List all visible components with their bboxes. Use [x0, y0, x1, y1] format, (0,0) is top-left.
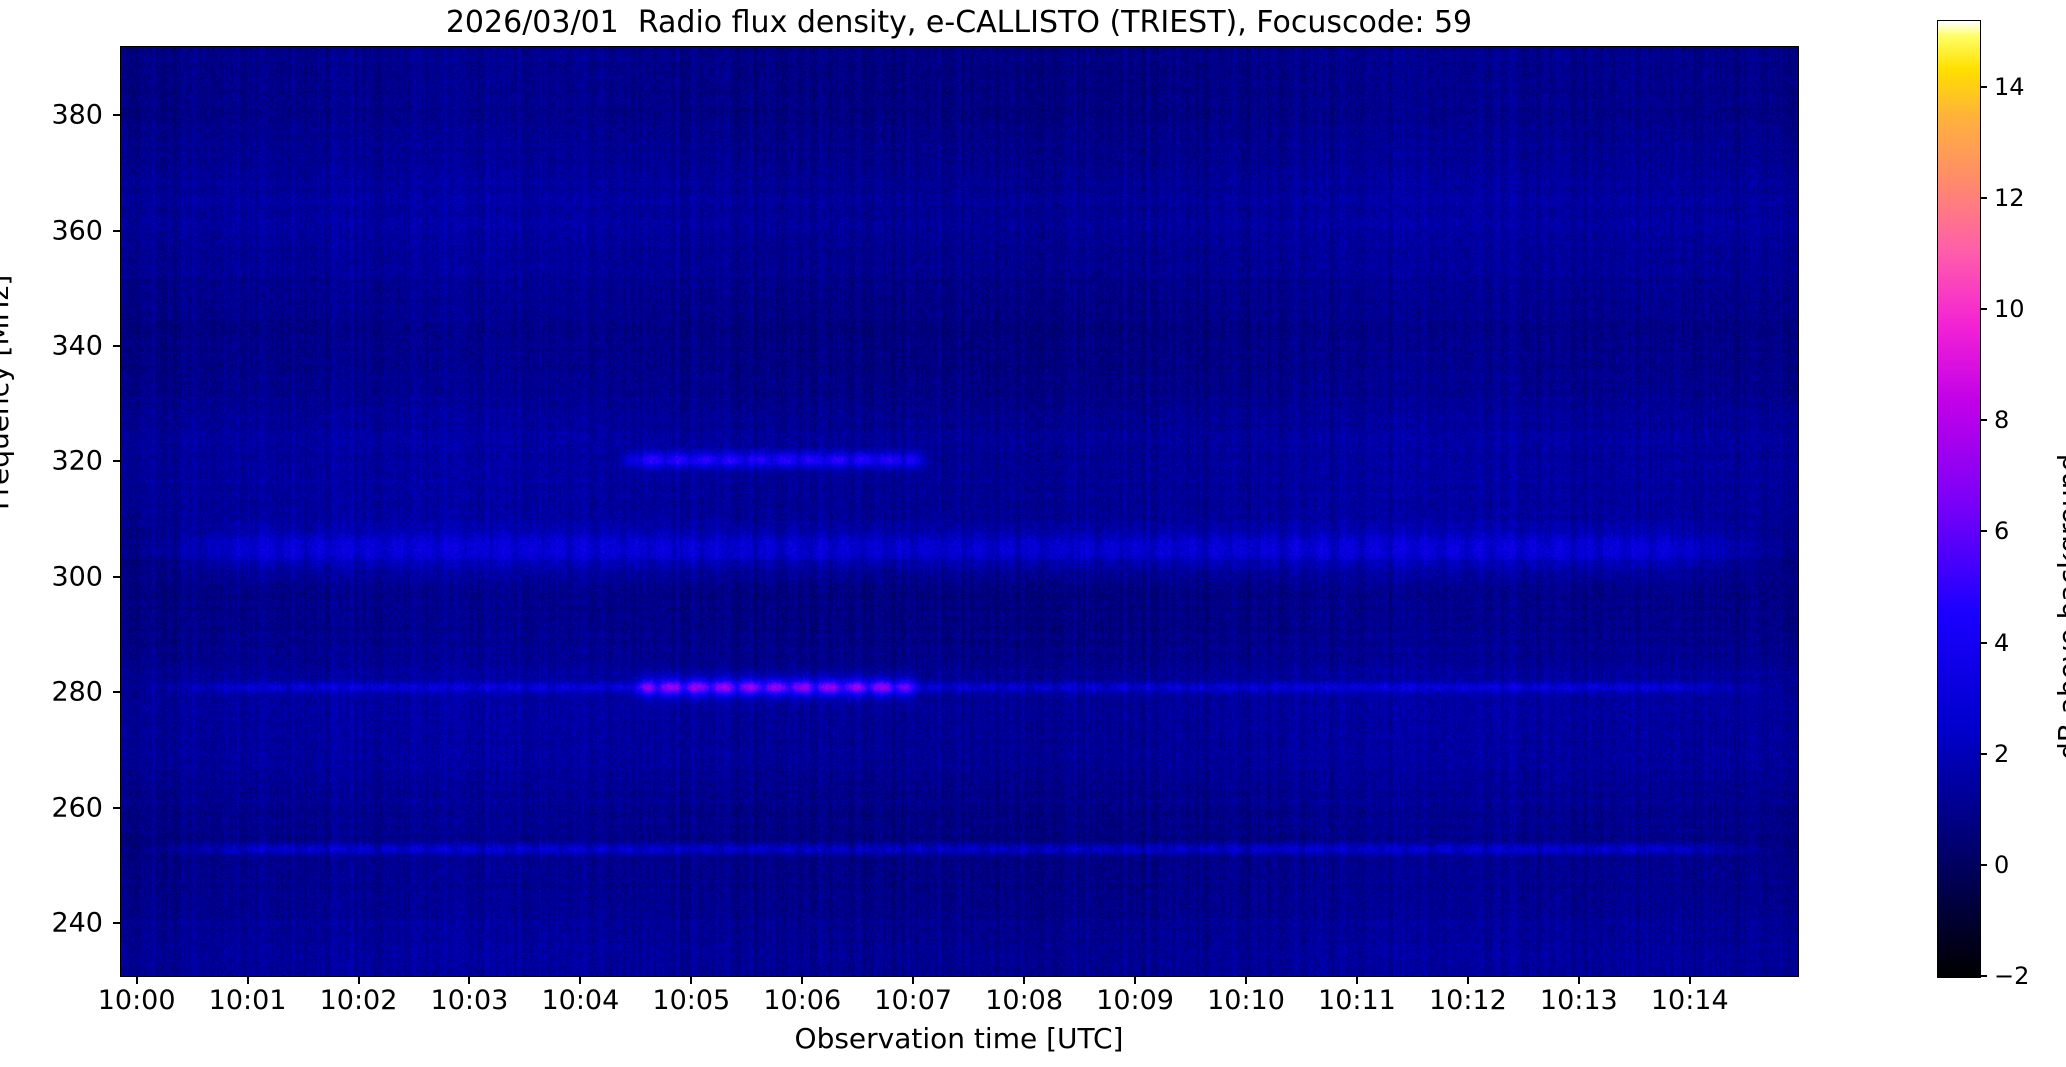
x-axis-tick-label: 10:14	[1651, 985, 1729, 1016]
x-axis-tick-label: 10:13	[1540, 985, 1618, 1016]
colorbar-tick-mark	[1980, 530, 1987, 532]
x-axis-tick-mark	[136, 977, 138, 984]
colorbar-tick-mark	[1980, 197, 1987, 199]
x-axis-tick-label: 10:01	[209, 985, 287, 1016]
x-axis-tick-mark	[1689, 977, 1691, 984]
x-axis-tick-label: 10:07	[874, 985, 952, 1016]
x-axis-tick-mark	[358, 977, 360, 984]
x-axis-tick-label: 10:06	[763, 985, 841, 1016]
x-axis-tick-mark	[1467, 977, 1469, 984]
page-title: 2026/03/01 Radio flux density, e-CALLIST…	[120, 4, 1798, 42]
colorbar-tick-label: −2	[1994, 962, 2029, 990]
x-axis-tick-mark	[247, 977, 249, 984]
x-axis-tick-mark	[1578, 977, 1580, 984]
x-axis-tick-label: 10:12	[1429, 985, 1507, 1016]
colorbar-tick-label: 0	[1994, 851, 2009, 879]
colorbar-tick-label: 6	[1994, 517, 2009, 545]
colorbar-label: dB above background	[2052, 454, 2066, 760]
y-axis-tick-label: 380	[0, 100, 103, 131]
colorbar-gradient	[1938, 21, 1980, 977]
x-axis-tick-mark	[801, 977, 803, 984]
y-axis-tick-label: 240	[0, 908, 103, 939]
x-axis-tick-mark	[468, 977, 470, 984]
colorbar-tick-mark	[1980, 86, 1987, 88]
x-axis-tick-mark	[1023, 977, 1025, 984]
colorbar	[1937, 20, 1981, 978]
x-axis-label: Observation time [UTC]	[120, 1022, 1798, 1055]
colorbar-tick-label: 2	[1994, 740, 2009, 768]
x-axis-tick-mark	[579, 977, 581, 984]
colorbar-tick-mark	[1980, 864, 1987, 866]
x-axis-tick-label: 10:04	[541, 985, 619, 1016]
colorbar-tick-label: 4	[1994, 629, 2009, 657]
y-axis-tick-mark	[113, 807, 120, 809]
y-axis-tick-label: 300	[0, 561, 103, 592]
y-axis-tick-label: 280	[0, 677, 103, 708]
x-axis-tick-mark	[912, 977, 914, 984]
colorbar-tick-mark	[1980, 419, 1987, 421]
y-axis-tick-mark	[113, 114, 120, 116]
y-axis-tick-mark	[113, 460, 120, 462]
colorbar-tick-mark	[1980, 753, 1987, 755]
colorbar-tick-label: 10	[1994, 295, 2025, 323]
y-axis-tick-mark	[113, 922, 120, 924]
x-axis-tick-mark	[690, 977, 692, 984]
y-axis-tick-mark	[113, 691, 120, 693]
y-axis-tick-label: 260	[0, 792, 103, 823]
spectrogram-plot-area	[120, 46, 1799, 977]
colorbar-tick-mark	[1980, 642, 1987, 644]
x-axis-tick-label: 10:11	[1318, 985, 1396, 1016]
y-axis-tick-label: 320	[0, 446, 103, 477]
colorbar-tick-mark	[1980, 975, 1987, 977]
spectrogram-image	[121, 47, 1798, 976]
colorbar-tick-mark	[1980, 308, 1987, 310]
x-axis-tick-mark	[1245, 977, 1247, 984]
y-axis-tick-mark	[113, 576, 120, 578]
x-axis-tick-label: 10:02	[320, 985, 398, 1016]
x-axis-tick-label: 10:00	[98, 985, 176, 1016]
spectrogram-figure: 2026/03/01 Radio flux density, e-CALLIST…	[0, 0, 2066, 1067]
x-axis-tick-label: 10:09	[1096, 985, 1174, 1016]
y-axis-tick-label: 360	[0, 215, 103, 246]
y-axis-tick-mark	[113, 230, 120, 232]
x-axis-tick-mark	[1356, 977, 1358, 984]
x-axis-tick-label: 10:05	[652, 985, 730, 1016]
x-axis-tick-label: 10:08	[985, 985, 1063, 1016]
y-axis-tick-mark	[113, 345, 120, 347]
colorbar-tick-label: 8	[1994, 406, 2009, 434]
x-axis-tick-mark	[1134, 977, 1136, 984]
colorbar-tick-label: 12	[1994, 184, 2025, 212]
colorbar-tick-label: 14	[1994, 73, 2025, 101]
x-axis-tick-label: 10:10	[1207, 985, 1285, 1016]
x-axis-tick-label: 10:03	[431, 985, 509, 1016]
y-axis-tick-label: 340	[0, 331, 103, 362]
